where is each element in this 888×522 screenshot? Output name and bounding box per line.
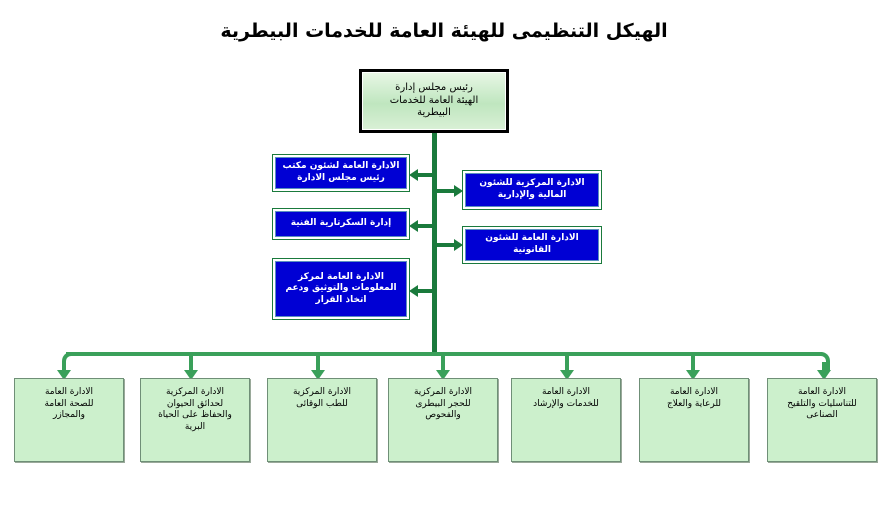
node-division-7[interactable]: الادارة العامة للتناسليات والتلقيح الصنا…	[767, 378, 877, 462]
node-division-6[interactable]: الادارة العامة للرعاية والعلاج	[639, 378, 749, 462]
branch-right-2-line	[436, 243, 455, 247]
node-division-5[interactable]: الادارة العامة للخدمات والإرشاد	[511, 378, 621, 462]
node-staff-right-2-label: الادارة العامة للشئون القانونية	[466, 233, 598, 256]
page-title: الهيكل التنظيمى للهيئة العامة للخدمات ال…	[0, 20, 888, 43]
node-staff-right-1-label: الادارة المركزية للشئون المالية والإداري…	[466, 178, 598, 201]
branch-left-1-line	[418, 173, 436, 177]
node-division-4-label: الادارة المركزية للحجر البيطرى والفحوص	[389, 387, 497, 422]
node-staff-right-1[interactable]: الادارة المركزية للشئون المالية والإداري…	[462, 170, 602, 210]
branch-left-3-line	[418, 289, 436, 293]
node-division-4[interactable]: الادارة المركزية للحجر البيطرى والفحوص	[388, 378, 498, 462]
branch-left-2-arrowhead	[409, 220, 418, 232]
node-division-3[interactable]: الادارة المركزية للطب الوقائى	[267, 378, 377, 462]
node-division-1-label: الادارة العامة للصحة العامة والمجازر	[15, 387, 123, 422]
branch-left-2-line	[418, 224, 436, 228]
node-staff-left-2[interactable]: إدارة السكرتارية الفنية	[272, 208, 410, 240]
node-division-2[interactable]: الادارة المركزية لحدائق الحيوان والحفاظ …	[140, 378, 250, 462]
org-chart-canvas: الهيكل التنظيمى للهيئة العامة للخدمات ال…	[0, 0, 888, 522]
node-division-3-label: الادارة المركزية للطب الوقائى	[268, 387, 376, 410]
branch-right-1-line	[436, 189, 455, 193]
node-division-6-label: الادارة العامة للرعاية والعلاج	[640, 387, 748, 410]
node-root-chairman-label: رئيس مجلس إدارة الهيئة العامة للخدمات ال…	[362, 82, 506, 120]
node-division-5-label: الادارة العامة للخدمات والإرشاد	[512, 387, 620, 410]
node-staff-left-1[interactable]: الادارة العامة لشئون مكتب رئيس مجلس الاد…	[272, 154, 410, 192]
node-staff-right-2[interactable]: الادارة العامة للشئون القانونية	[462, 226, 602, 264]
node-division-1[interactable]: الادارة العامة للصحة العامة والمجازر	[14, 378, 124, 462]
branch-left-3-arrowhead	[409, 285, 418, 297]
node-staff-left-2-label: إدارة السكرتارية الفنية	[276, 218, 406, 230]
node-staff-left-3-label: الادارة العامة لمركز المعلومات والتوثيق …	[276, 272, 406, 307]
node-division-2-label: الادارة المركزية لحدائق الحيوان والحفاظ …	[141, 387, 249, 433]
node-staff-left-3[interactable]: الادارة العامة لمركز المعلومات والتوثيق …	[272, 258, 410, 320]
branch-left-1-arrowhead	[409, 169, 418, 181]
node-division-7-label: الادارة العامة للتناسليات والتلقيح الصنا…	[768, 387, 876, 422]
node-root-chairman[interactable]: رئيس مجلس إدارة الهيئة العامة للخدمات ال…	[359, 69, 509, 133]
node-staff-left-1-label: الادارة العامة لشئون مكتب رئيس مجلس الاد…	[276, 161, 406, 184]
